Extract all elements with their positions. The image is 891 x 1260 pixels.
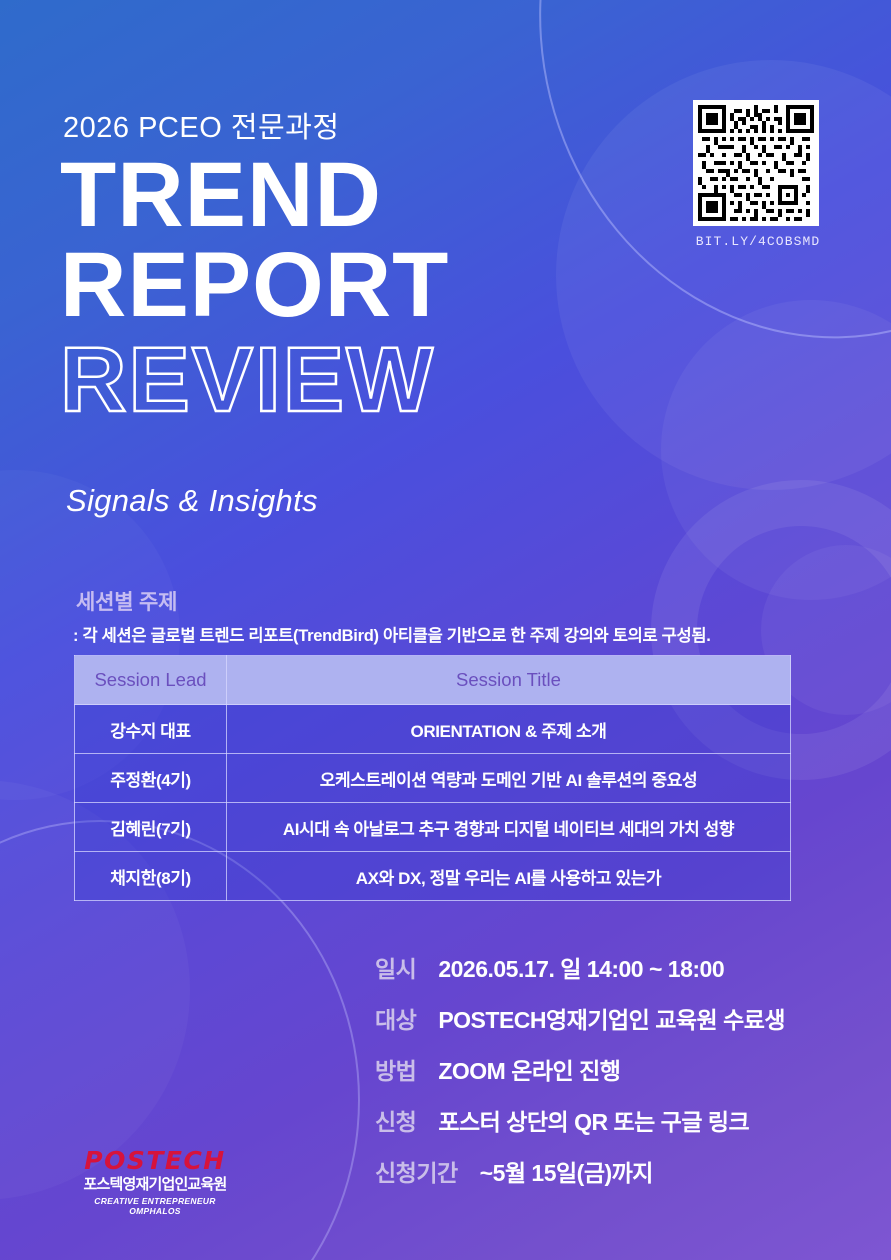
info-value-audience: POSTECH영재기업인 교육원 수료생: [438, 1001, 785, 1035]
poster-subtitle: Signals & Insights: [66, 483, 318, 519]
info-label-application: 신청: [375, 1103, 416, 1137]
title-line-report: REPORT: [60, 240, 680, 330]
event-info-block: 일시 2026.05.17. 일 14:00 ~ 18:00 대상 POSTEC…: [375, 950, 845, 1205]
info-label-deadline: 신청기간: [375, 1154, 458, 1188]
table-row: 김혜린(7기) AI시대 속 아날로그 추구 경향과 디지털 네이티브 세대의 …: [75, 803, 791, 852]
cell-session-lead: 김혜린(7기): [75, 803, 227, 852]
info-value-method: ZOOM 온라인 진행: [438, 1052, 620, 1086]
title-line-trend: TREND: [60, 150, 680, 240]
info-row-method: 방법 ZOOM 온라인 진행: [375, 1052, 845, 1086]
table-row: 채지한(8기) AX와 DX, 정말 우리는 AI를 사용하고 있는가: [75, 852, 791, 901]
info-row-audience: 대상 POSTECH영재기업인 교육원 수료생: [375, 1001, 845, 1035]
qr-code-icon[interactable]: [693, 100, 819, 226]
cell-session-lead: 주정환(4기): [75, 754, 227, 803]
logo-wordmark: POSTECH: [70, 1148, 240, 1173]
column-header-session-title: Session Title: [227, 656, 791, 705]
session-section-heading: 세션별 주제: [76, 586, 177, 616]
cell-session-lead: 강수지 대표: [75, 705, 227, 754]
cell-session-title: AI시대 속 아날로그 추구 경향과 디지털 네이티브 세대의 가치 성향: [227, 803, 791, 852]
cell-session-title: 오케스트레이션 역량과 도메인 기반 AI 솔루션의 중요성: [227, 754, 791, 803]
info-label-audience: 대상: [375, 1001, 416, 1035]
qr-url-label: BIT.LY/4COBSMD: [693, 234, 823, 249]
cell-session-lead: 채지한(8기): [75, 852, 227, 901]
info-value-date: 2026.05.17. 일 14:00 ~ 18:00: [438, 950, 724, 984]
info-value-application: 포스터 상단의 QR 또는 구글 링크: [438, 1103, 749, 1137]
info-value-deadline: ~5월 15일(금)까지: [480, 1154, 653, 1188]
cell-session-title: AX와 DX, 정말 우리는 AI를 사용하고 있는가: [227, 852, 791, 901]
table-row: 강수지 대표 ORIENTATION & 주제 소개: [75, 705, 791, 754]
table-header-row: Session Lead Session Title: [75, 656, 791, 705]
poster-title-block: TREND REPORT REVIEW: [60, 150, 680, 430]
session-table-body: 강수지 대표 ORIENTATION & 주제 소개 주정환(4기) 오케스트레…: [75, 705, 791, 901]
table-row: 주정환(4기) 오케스트레이션 역량과 도메인 기반 AI 솔루션의 중요성: [75, 754, 791, 803]
qr-block[interactable]: BIT.LY/4COBSMD: [693, 100, 823, 249]
info-row-deadline: 신청기간 ~5월 15일(금)까지: [375, 1154, 845, 1188]
session-table: Session Lead Session Title 강수지 대표 ORIENT…: [74, 655, 791, 901]
info-label-date: 일시: [375, 950, 416, 984]
session-section-description: : 각 세션은 글로벌 트렌드 리포트(TrendBird) 아티클을 기반으로…: [73, 622, 711, 646]
poster-kicker: 2026 PCEO 전문과정: [63, 104, 340, 146]
column-header-session-lead: Session Lead: [75, 656, 227, 705]
decorative-circle-right: [661, 300, 891, 600]
logo-korean-name: 포스텍영재기업인교육원: [70, 1176, 240, 1195]
cell-session-title: ORIENTATION & 주제 소개: [227, 705, 791, 754]
logo-tagline: CREATIVE ENTREPRENEUR OMPHALOS: [70, 1196, 240, 1216]
session-table-head: Session Lead Session Title: [75, 656, 791, 705]
poster-canvas: 2026 PCEO 전문과정 TREND REPORT REVIEW Signa…: [0, 0, 891, 1260]
title-line-review: REVIEW: [60, 330, 680, 430]
info-label-method: 방법: [375, 1052, 416, 1086]
info-row-application: 신청 포스터 상단의 QR 또는 구글 링크: [375, 1103, 845, 1137]
info-row-date: 일시 2026.05.17. 일 14:00 ~ 18:00: [375, 950, 845, 984]
postech-logo: POSTECH 포스텍영재기업인교육원 CREATIVE ENTREPRENEU…: [70, 1148, 240, 1216]
